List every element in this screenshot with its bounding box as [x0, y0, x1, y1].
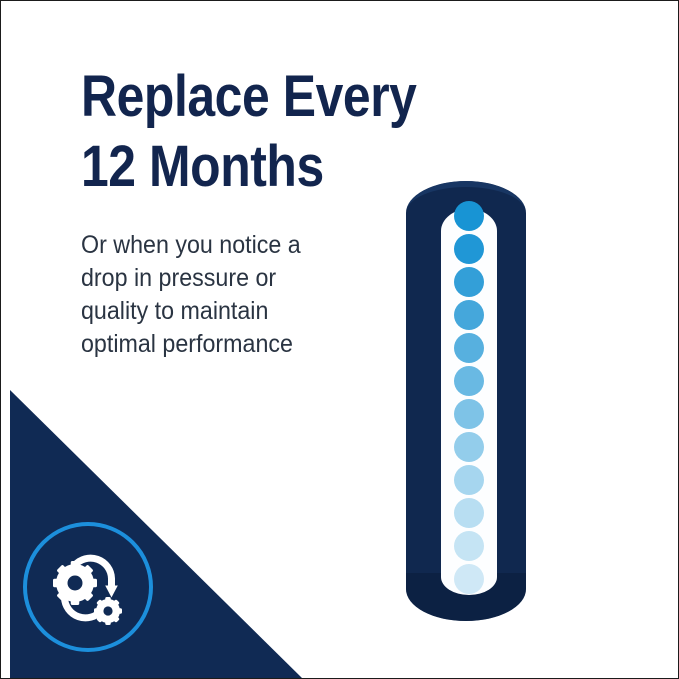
filter-life-dot [454, 498, 484, 528]
filter-life-dot [454, 333, 484, 363]
gears-recycle-icon [53, 558, 122, 625]
poster-canvas: Replace Every 12 Months Or when you noti… [0, 0, 679, 679]
subcopy-line-4: optimal performance [81, 328, 388, 361]
subcopy-line-3: quality to maintain [81, 295, 388, 328]
filter-life-dot [454, 432, 484, 462]
subcopy-line-2: drop in pressure or [81, 262, 388, 295]
filter-life-dot [454, 234, 484, 264]
page-title-line-1: Replace Every [81, 63, 365, 131]
filter-life-dot [454, 267, 484, 297]
page-title-line-2: 12 Months [81, 133, 365, 201]
filter-life-dot [454, 465, 484, 495]
maintenance-cycle-badge [22, 521, 154, 653]
subcopy-line-1: Or when you notice a [81, 229, 388, 262]
filter-life-dot [454, 564, 484, 594]
filter-life-dot [454, 201, 484, 231]
subcopy: Or when you notice a drop in pressure or… [81, 229, 388, 361]
filter-life-dot [454, 399, 484, 429]
filter-life-dot [454, 531, 484, 561]
filter-life-dot [454, 366, 484, 396]
water-filter-cartridge [399, 169, 535, 639]
text-block: Replace Every 12 Months Or when you noti… [81, 63, 411, 361]
filter-life-dot [454, 300, 484, 330]
